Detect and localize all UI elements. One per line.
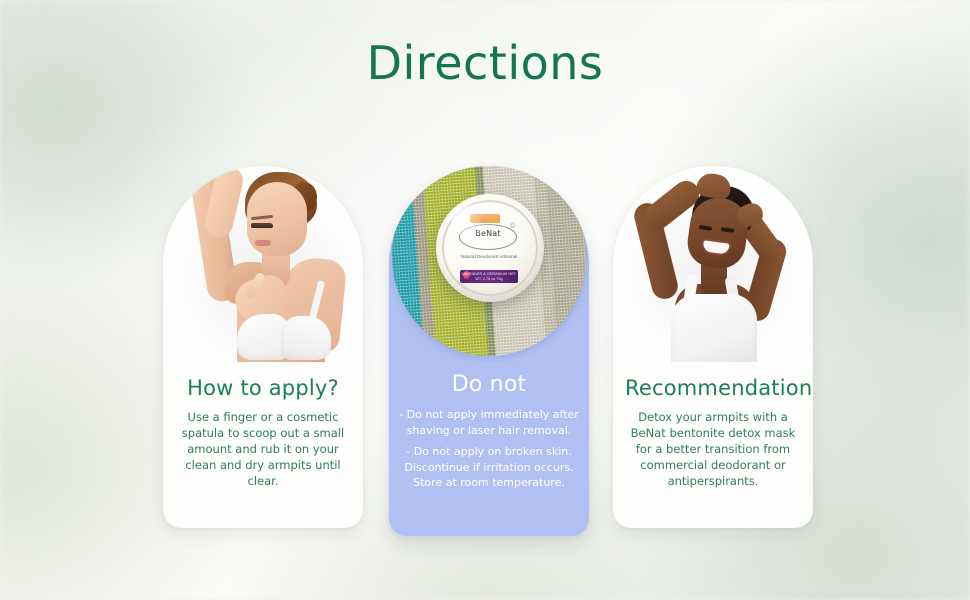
card-do-not-text: - Do not apply immediately after shaving… (399, 407, 579, 491)
card-recommendation-image (613, 166, 813, 362)
directions-card-row: How to apply? Use a finger or a cosmetic… (0, 166, 970, 546)
smiling-woman-illustration (613, 166, 813, 362)
jar-scent-text: LAVENDER & GERANIUM NET WT. 2.75 oz 78g (460, 272, 518, 282)
card-how-to-apply-text: Use a finger or a cosmetic spatula to sc… (175, 409, 351, 489)
bra-right-cup-shape (281, 316, 331, 360)
card-recommendation-text: Detox your armpits with a BeNat bentonit… (625, 409, 801, 489)
card-do-not-image: © BeNat Natural Deodorant Artisanal LAVE… (389, 166, 589, 362)
card-how-to-apply-heading: How to apply? (175, 376, 351, 400)
card-recommendation-heading: Recommendation (625, 376, 801, 400)
card-do-not-body: Do not - Do not apply immediately after … (389, 362, 589, 505)
lips-shape (255, 240, 271, 246)
deodorant-jar: © BeNat Natural Deodorant Artisanal LAVE… (436, 194, 544, 302)
woman-applying-deodorant-illustration (163, 166, 363, 362)
card-do-not-paragraph-2: - Do not apply on broken skin. Discontin… (399, 444, 579, 491)
jar-subtitle: Natural Deodorant Artisanal (446, 254, 532, 260)
card-recommendation-body: Recommendation Detox your armpits with a… (613, 362, 813, 505)
page-title: Directions (0, 36, 970, 90)
card-how-to-apply[interactable]: How to apply? Use a finger or a cosmetic… (163, 166, 363, 528)
card-recommendation[interactable]: Recommendation Detox your armpits with a… (613, 166, 813, 528)
card-how-to-apply-body: How to apply? Use a finger or a cosmetic… (163, 362, 363, 505)
card-do-not-heading: Do not (399, 372, 579, 397)
card-recommendation-paragraph: Detox your armpits with a BeNat bentonit… (625, 409, 801, 489)
eye-shape (251, 223, 273, 228)
card-how-to-apply-paragraph: Use a finger or a cosmetic spatula to sc… (175, 409, 351, 489)
deodorant-jar-illustration: © BeNat Natural Deodorant Artisanal LAVE… (389, 166, 589, 362)
card-do-not[interactable]: © BeNat Natural Deodorant Artisanal LAVE… (389, 166, 589, 536)
card-do-not-paragraph-1: - Do not apply immediately after shaving… (399, 407, 579, 438)
card-how-to-apply-image (163, 166, 363, 362)
white-tank-top-shape (671, 294, 757, 362)
